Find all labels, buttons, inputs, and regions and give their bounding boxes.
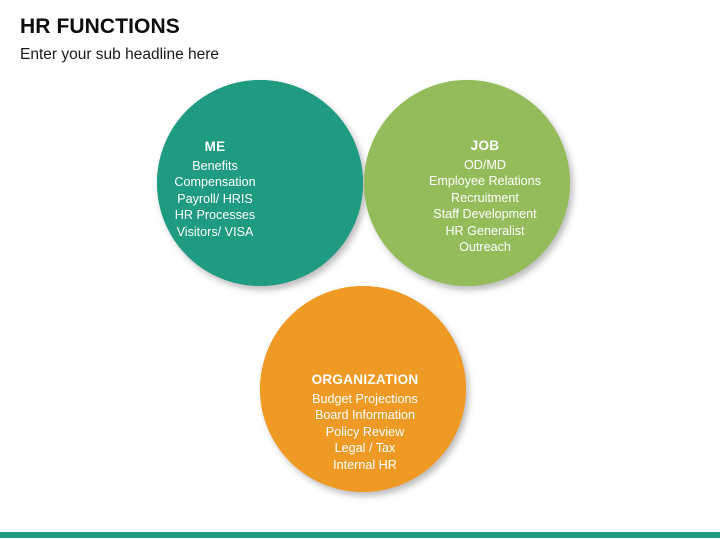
- venn-circles-flat: [157, 80, 570, 492]
- slide-canvas: HR FUNCTIONS Enter your sub headline her…: [0, 0, 720, 540]
- bottom-accent-rule: [0, 532, 720, 538]
- venn-diagram: [0, 0, 720, 540]
- venn-svg: [0, 0, 720, 540]
